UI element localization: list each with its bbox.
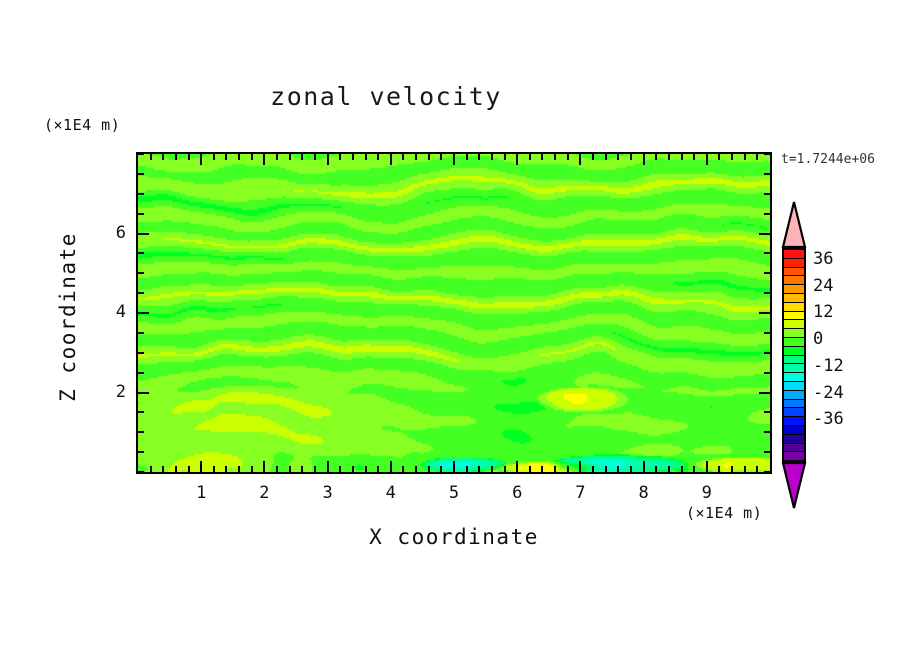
x-axis-tick	[605, 154, 607, 160]
x-axis-tick-label: 2	[244, 483, 284, 503]
y-axis-tick	[764, 153, 770, 155]
x-axis-tick	[327, 154, 329, 165]
x-axis-tick	[225, 466, 227, 472]
x-axis-tick	[352, 466, 354, 472]
x-axis-tick	[150, 466, 152, 472]
x-axis-tick	[554, 154, 556, 160]
x-axis-tick-label: 5	[434, 483, 474, 503]
y-axis-tick	[764, 372, 770, 374]
x-axis-tick	[605, 466, 607, 472]
x-axis-tick	[188, 154, 190, 160]
x-axis-tick	[567, 154, 569, 160]
y-axis-tick	[138, 312, 149, 314]
x-axis-tick	[579, 461, 581, 472]
x-axis-tick	[175, 154, 177, 160]
x-axis-tick	[263, 154, 265, 165]
colorbar-band	[784, 303, 804, 312]
y-axis-tick	[764, 411, 770, 413]
y-axis-tick	[138, 411, 144, 413]
x-axis-tick-label: 7	[560, 483, 600, 503]
x-axis-tick	[718, 154, 720, 160]
x-axis-tick	[541, 154, 543, 160]
x-axis-tick	[630, 466, 632, 472]
x-axis-tick	[491, 154, 493, 160]
x-axis-tick	[213, 466, 215, 472]
x-axis-tick	[327, 461, 329, 472]
x-axis-tick-label: 8	[624, 483, 664, 503]
x-axis-tick	[251, 154, 253, 160]
x-axis-tick	[238, 466, 240, 472]
colorbar-band	[784, 426, 804, 435]
y-axis-tick	[138, 252, 144, 254]
x-axis-tick	[529, 466, 531, 472]
colorbar-tick-label: 12	[813, 302, 833, 322]
x-axis-tick	[339, 154, 341, 160]
colorbar-band	[784, 259, 804, 268]
x-axis-tick	[213, 154, 215, 160]
colorbar-band	[784, 356, 804, 365]
x-axis-tick	[339, 466, 341, 472]
colorbar-band	[784, 444, 804, 453]
y-axis-tick	[138, 193, 144, 195]
y-axis-tick	[138, 213, 144, 215]
colorbar-tick-label: -12	[813, 356, 844, 376]
colorbar-band	[784, 276, 804, 285]
y-axis-tick	[759, 392, 770, 394]
x-axis-tick	[478, 154, 480, 160]
x-axis-tick	[579, 154, 581, 165]
colorbar-band	[784, 347, 804, 356]
x-axis-tick	[188, 466, 190, 472]
x-axis-tick	[301, 466, 303, 472]
x-axis-tick	[402, 154, 404, 160]
colorbar-tick-label: -24	[813, 383, 844, 403]
x-axis-tick	[516, 154, 518, 165]
x-axis-tick	[238, 154, 240, 160]
x-axis-tick	[756, 154, 758, 160]
x-axis-tick	[289, 154, 291, 160]
x-axis-tick	[744, 466, 746, 472]
y-axis-tick	[764, 252, 770, 254]
y-axis-tick	[138, 372, 144, 374]
x-axis-tick	[718, 466, 720, 472]
x-axis-tick	[706, 154, 708, 165]
x-axis-tick	[643, 461, 645, 472]
colorbar-band	[784, 329, 804, 338]
y-axis-tick	[138, 153, 144, 155]
x-axis-tick	[504, 154, 506, 160]
colorbar-tick-label: 24	[813, 276, 833, 296]
y-axis-tick	[759, 312, 770, 314]
x-axis-tick-label: 6	[497, 483, 537, 503]
colorbar-under-arrow-icon	[781, 462, 807, 510]
x-axis-tick	[276, 466, 278, 472]
x-axis-tick	[301, 154, 303, 160]
y-axis-tick-label: 6	[90, 223, 126, 243]
y-axis-tick	[138, 392, 149, 394]
y-axis-tick	[138, 173, 144, 175]
x-axis-tick	[655, 466, 657, 472]
x-axis-tick	[554, 466, 556, 472]
x-axis-tick	[276, 154, 278, 160]
colorbar-band	[784, 338, 804, 347]
x-axis-tick	[592, 466, 594, 472]
colorbar-band	[784, 312, 804, 321]
colorbar-tick-label: -36	[813, 409, 844, 429]
y-axis-tick	[759, 233, 770, 235]
x-axis-tick	[415, 154, 417, 160]
y-axis-tick	[764, 471, 770, 473]
x-axis-tick	[377, 466, 379, 472]
x-axis-tick	[693, 466, 695, 472]
x-axis-tick	[681, 154, 683, 160]
x-axis-tick	[592, 154, 594, 160]
axis-ticks-layer: 123456789246	[0, 0, 904, 654]
x-axis-tick	[428, 466, 430, 472]
y-axis-tick	[138, 272, 144, 274]
x-axis-tick	[453, 154, 455, 165]
x-axis-tick	[440, 154, 442, 160]
x-axis-tick	[352, 154, 354, 160]
colorbar-band	[784, 250, 804, 259]
x-axis-tick	[377, 154, 379, 160]
colorbar-band	[784, 285, 804, 294]
y-axis-tick-label: 4	[90, 302, 126, 322]
x-axis-tick	[289, 466, 291, 472]
x-axis-tick	[466, 466, 468, 472]
x-axis-tick	[440, 466, 442, 472]
x-axis-tick	[225, 154, 227, 160]
y-axis-tick	[764, 451, 770, 453]
x-axis-tick	[706, 461, 708, 472]
x-axis-tick	[516, 461, 518, 472]
y-axis-tick	[764, 352, 770, 354]
y-axis-tick	[138, 292, 144, 294]
velocity-colorbar[interactable]: 3624120-12-24-36	[781, 200, 807, 510]
x-axis-tick	[466, 154, 468, 160]
x-axis-tick	[175, 466, 177, 472]
x-axis-tick	[744, 154, 746, 160]
y-axis-tick	[764, 173, 770, 175]
colorbar-band	[784, 408, 804, 417]
y-axis-tick-label: 2	[90, 382, 126, 402]
colorbar-band	[784, 294, 804, 303]
x-axis-tick	[731, 154, 733, 160]
y-axis-tick	[138, 352, 144, 354]
y-axis-tick	[138, 451, 144, 453]
y-axis-tick	[764, 272, 770, 274]
x-axis-tick	[365, 466, 367, 472]
y-axis-tick	[764, 193, 770, 195]
x-axis-tick	[453, 461, 455, 472]
x-axis-tick	[200, 154, 202, 165]
colorbar-band	[784, 417, 804, 426]
y-axis-tick	[138, 233, 149, 235]
colorbar-band	[784, 382, 804, 391]
x-axis-tick	[756, 466, 758, 472]
x-axis-tick	[478, 466, 480, 472]
x-axis-tick	[617, 466, 619, 472]
x-axis-tick	[567, 466, 569, 472]
x-axis-tick	[200, 461, 202, 472]
colorbar-tick-label: 0	[813, 329, 823, 349]
colorbar-band	[784, 435, 804, 444]
x-axis-tick-label: 1	[181, 483, 221, 503]
y-axis-tick	[764, 213, 770, 215]
x-axis-tick	[655, 154, 657, 160]
x-axis-tick	[162, 466, 164, 472]
x-axis-tick	[428, 154, 430, 160]
colorbar-band	[784, 391, 804, 400]
x-axis-tick	[402, 466, 404, 472]
y-axis-tick	[764, 431, 770, 433]
x-axis-tick	[251, 466, 253, 472]
colorbar-over-arrow-icon	[781, 200, 807, 248]
x-axis-tick	[529, 154, 531, 160]
y-axis-tick	[138, 471, 144, 473]
colorbar-bands	[782, 248, 806, 462]
x-axis-tick	[681, 466, 683, 472]
x-axis-tick	[162, 154, 164, 160]
x-axis-tick	[263, 461, 265, 472]
x-axis-tick	[314, 154, 316, 160]
colorbar-band	[784, 452, 804, 460]
x-axis-tick	[390, 154, 392, 165]
x-axis-tick	[365, 154, 367, 160]
x-axis-tick	[415, 466, 417, 472]
x-axis-tick	[693, 154, 695, 160]
x-axis-tick	[150, 154, 152, 160]
figure-root: zonal velocity (×1E4 m) (×1E4 m) X coord…	[0, 0, 904, 654]
x-axis-tick	[731, 466, 733, 472]
y-axis-tick	[764, 332, 770, 334]
x-axis-tick	[491, 466, 493, 472]
colorbar-band	[784, 400, 804, 409]
x-axis-tick	[617, 154, 619, 160]
x-axis-tick	[390, 461, 392, 472]
colorbar-tick-label: 36	[813, 249, 833, 269]
x-axis-tick	[541, 466, 543, 472]
y-axis-tick	[138, 332, 144, 334]
y-axis-tick	[138, 431, 144, 433]
x-axis-tick	[504, 466, 506, 472]
colorbar-band	[784, 268, 804, 277]
x-axis-tick-label: 9	[687, 483, 727, 503]
x-axis-tick	[630, 154, 632, 160]
x-axis-tick-label: 4	[371, 483, 411, 503]
colorbar-band	[784, 373, 804, 382]
y-axis-tick	[764, 292, 770, 294]
x-axis-tick	[668, 154, 670, 160]
x-axis-tick	[314, 466, 316, 472]
x-axis-tick-label: 3	[308, 483, 348, 503]
x-axis-tick	[643, 154, 645, 165]
x-axis-tick	[668, 466, 670, 472]
colorbar-band	[784, 320, 804, 329]
colorbar-band	[784, 364, 804, 373]
